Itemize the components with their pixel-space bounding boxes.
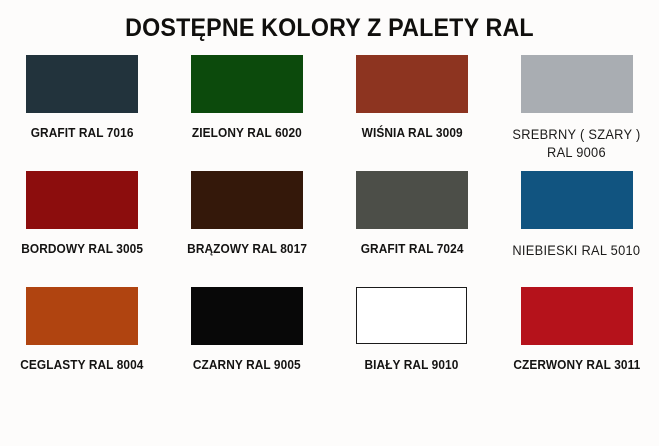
- color-swatch: [521, 55, 633, 113]
- swatch-cell-czarny-9005[interactable]: CZARNY RAL 9005: [165, 287, 330, 403]
- swatch-row: GRAFIT RAL 7016 ZIELONY RAL 6020 WIŚNIA …: [0, 55, 659, 171]
- swatch-label: SREBRNY ( SZARY ) RAL 9006: [513, 126, 641, 162]
- swatch-label: WIŚNIA RAL 3009: [361, 126, 462, 141]
- color-swatch: [191, 171, 303, 229]
- color-swatch: [26, 287, 138, 345]
- swatch-row: CEGLASTY RAL 8004 CZARNY RAL 9005 BIAŁY …: [0, 287, 659, 403]
- swatch-container: [330, 55, 495, 115]
- swatch-container: [494, 55, 659, 115]
- swatch-cell-wisnia-3009[interactable]: WIŚNIA RAL 3009: [330, 55, 495, 171]
- swatch-label: CZARNY RAL 9005: [193, 358, 301, 373]
- swatch-label: BORDOWY RAL 3005: [21, 242, 143, 257]
- swatch-cell-niebieski-5010[interactable]: NIEBIESKI RAL 5010: [494, 171, 659, 287]
- swatch-label: CZERWONY RAL 3011: [513, 358, 640, 373]
- swatch-container: [165, 55, 330, 115]
- swatch-container: [0, 171, 165, 231]
- swatch-label: BIAŁY RAL 9010: [365, 358, 459, 373]
- color-swatch-grid: GRAFIT RAL 7016 ZIELONY RAL 6020 WIŚNIA …: [0, 55, 659, 403]
- swatch-container: [494, 171, 659, 231]
- color-swatch: [26, 55, 138, 113]
- color-swatch: [356, 55, 468, 113]
- swatch-container: [0, 55, 165, 115]
- swatch-cell-srebrny-9006[interactable]: SREBRNY ( SZARY ) RAL 9006: [494, 55, 659, 171]
- page-title: DOSTĘPNE KOLORY Z PALETY RAL: [23, 14, 636, 43]
- swatch-label: CEGLASTY RAL 8004: [21, 358, 144, 373]
- swatch-cell-czerwony-3011[interactable]: CZERWONY RAL 3011: [494, 287, 659, 403]
- swatch-label: NIEBIESKI RAL 5010: [513, 242, 641, 260]
- swatch-cell-brazowy-8017[interactable]: BRĄZOWY RAL 8017: [165, 171, 330, 287]
- color-swatch: [26, 171, 138, 229]
- swatch-container: [330, 287, 495, 347]
- color-swatch: [356, 287, 467, 344]
- swatch-label: BRĄZOWY RAL 8017: [187, 242, 307, 257]
- swatch-container: [0, 287, 165, 347]
- swatch-cell-bialy-9010[interactable]: BIAŁY RAL 9010: [330, 287, 495, 403]
- swatch-cell-grafit-7024[interactable]: GRAFIT RAL 7024: [330, 171, 495, 287]
- swatch-container: [494, 287, 659, 347]
- color-swatch: [191, 55, 303, 113]
- swatch-container: [330, 171, 495, 231]
- swatch-label: GRAFIT RAL 7016: [31, 126, 134, 141]
- swatch-cell-bordowy-3005[interactable]: BORDOWY RAL 3005: [0, 171, 165, 287]
- color-swatch: [191, 287, 303, 345]
- swatch-cell-ceglasty-8004[interactable]: CEGLASTY RAL 8004: [0, 287, 165, 403]
- color-swatch: [521, 171, 633, 229]
- color-palette-page: DOSTĘPNE KOLORY Z PALETY RAL GRAFIT RAL …: [0, 0, 659, 446]
- swatch-container: [165, 287, 330, 347]
- swatch-label: GRAFIT RAL 7024: [360, 242, 463, 257]
- swatch-label: ZIELONY RAL 6020: [192, 126, 302, 141]
- swatch-cell-grafit-7016[interactable]: GRAFIT RAL 7016: [0, 55, 165, 171]
- swatch-container: [165, 171, 330, 231]
- swatch-row: BORDOWY RAL 3005 BRĄZOWY RAL 8017 GRAFIT…: [0, 171, 659, 287]
- color-swatch: [521, 287, 633, 345]
- color-swatch: [356, 171, 468, 229]
- swatch-cell-zielony-6020[interactable]: ZIELONY RAL 6020: [165, 55, 330, 171]
